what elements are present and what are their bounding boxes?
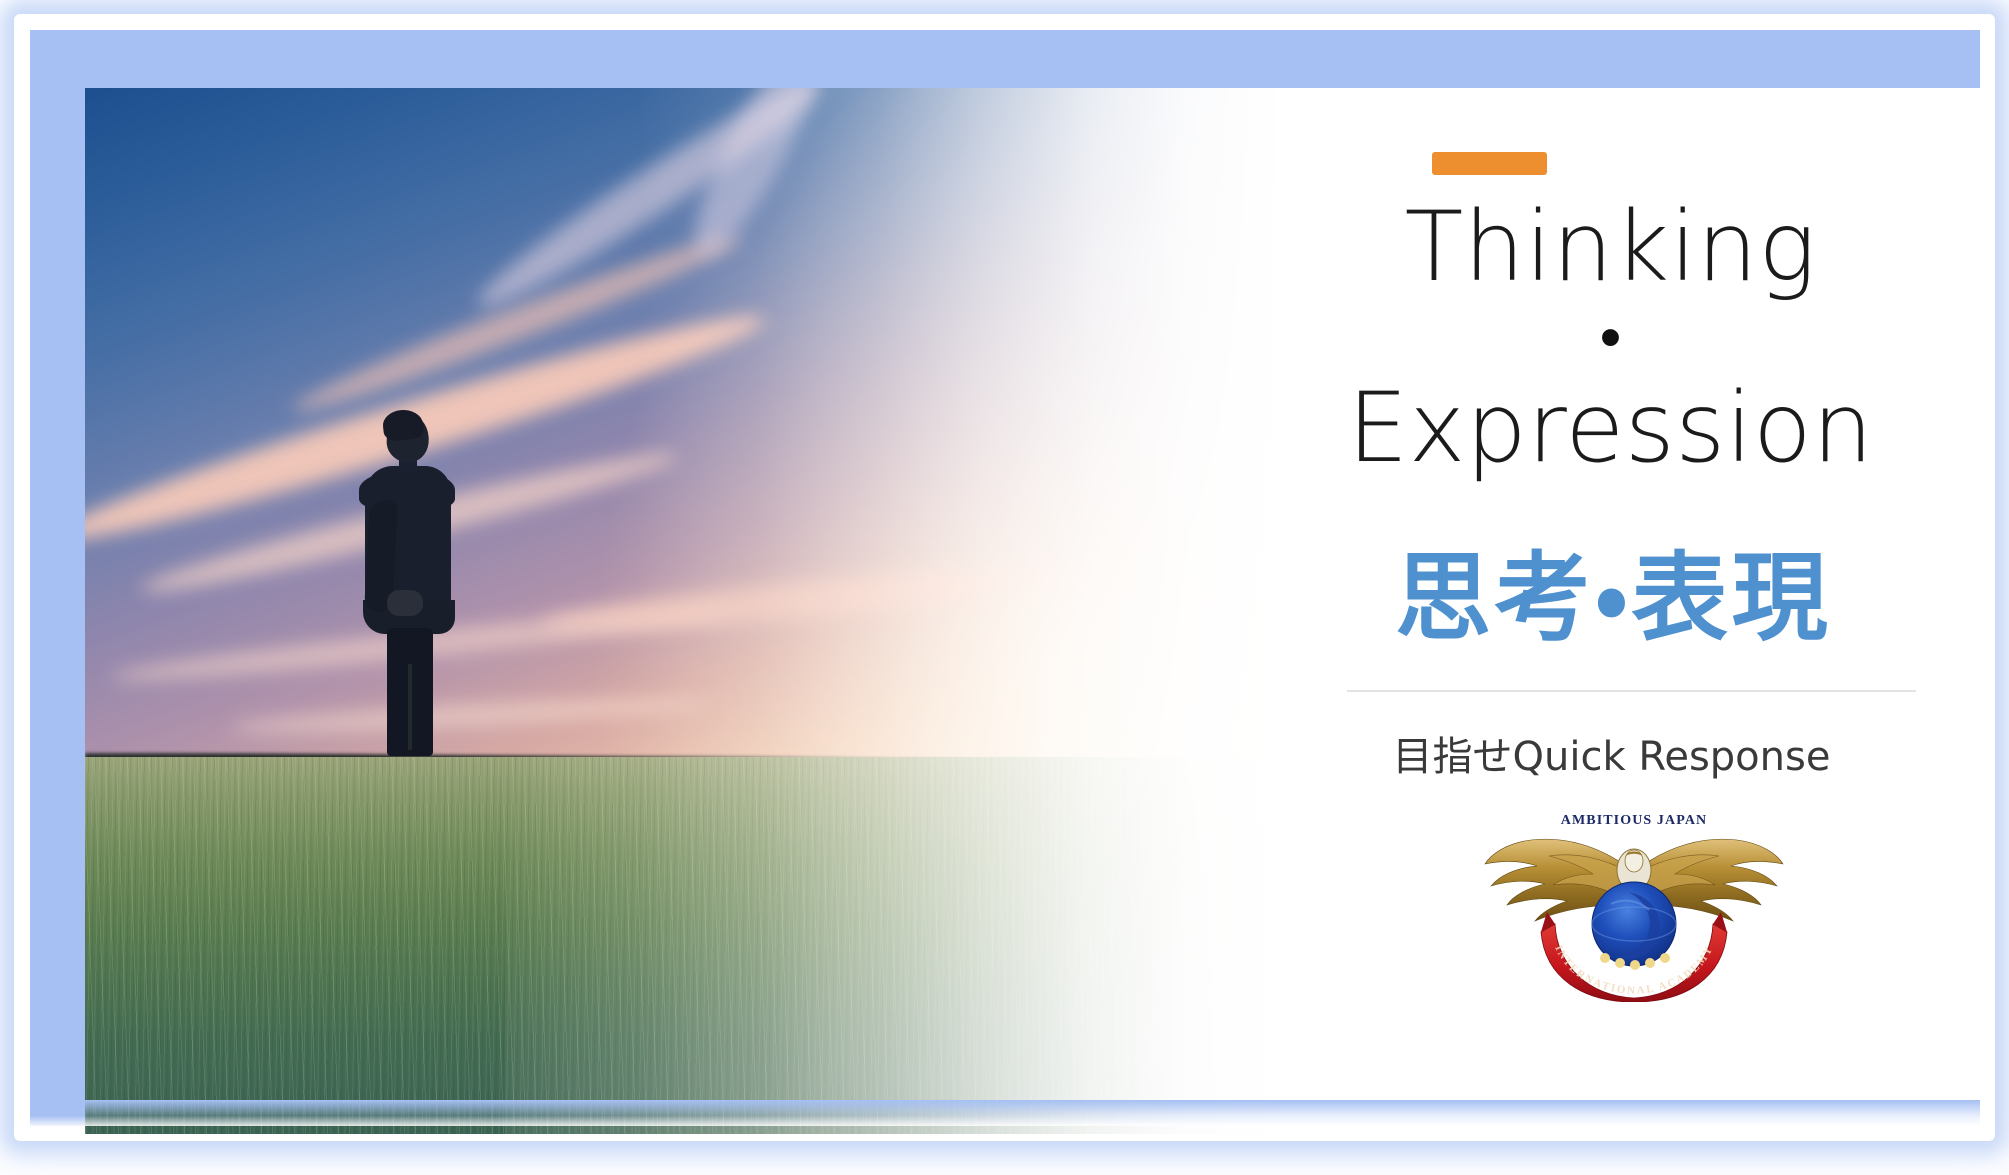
- title-line-expression: Expression: [1285, 375, 1936, 483]
- japanese-title: 思考・表現: [1285, 548, 1942, 649]
- ambitious-japan-emblem: AMBITIOUS JAPAN: [1479, 806, 1789, 1002]
- title-block: Thinking • Expression: [1285, 194, 1936, 483]
- emblem-top-text: AMBITIOUS JAPAN: [1560, 813, 1707, 828]
- title-bullet-separator: •: [1285, 310, 1936, 366]
- page-background: Thinking • Expression 思考・表現 目指せQuick Res…: [0, 0, 2009, 1175]
- photo-white-fade: [85, 88, 1285, 1134]
- title-line-thinking: Thinking: [1285, 194, 1936, 302]
- slide-frame: Thinking • Expression 思考・表現 目指せQuick Res…: [30, 30, 1980, 1126]
- slide-canvas: Thinking • Expression 思考・表現 目指せQuick Res…: [85, 88, 1982, 1134]
- orange-accent-bar: [1432, 152, 1547, 175]
- subtitle-text: 目指せQuick Response: [1285, 724, 1938, 782]
- text-panel: Thinking • Expression 思考・表現 目指せQuick Res…: [1285, 88, 1982, 1134]
- divider-rule: [1347, 690, 1916, 692]
- hero-photo: [85, 88, 1285, 1134]
